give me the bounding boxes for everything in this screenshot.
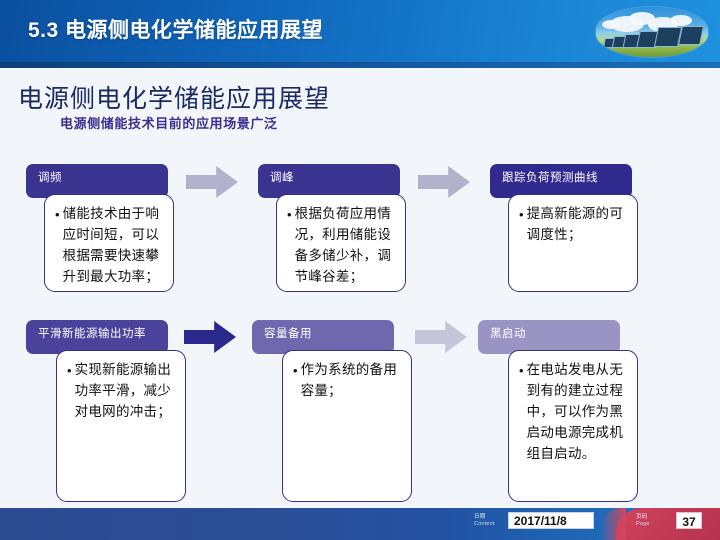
slide-canvas: 5.3 电源侧电化学储能应用展望 电源侧电化学储能应用展望 电源侧储能技术目前的… (0, 0, 720, 540)
bullet-icon: • (67, 360, 75, 381)
flow-node-header-heiqidong: 黑启动 (478, 320, 620, 354)
page-number-field[interactable]: 37 (676, 512, 702, 529)
flow-node-header-tiaofeng: 调峰 (258, 164, 400, 198)
bullet-icon: • (293, 360, 301, 381)
flow-node-header-rongliang: 容量备用 (252, 320, 394, 354)
flow-arrow-2 (418, 166, 470, 198)
section-subtitle: 电源侧储能技术目前的应用场景广泛 (60, 113, 278, 132)
slide-footer-bar (0, 508, 720, 540)
page-number-value: 37 (682, 515, 695, 529)
flow-node-text-pinghua: 实现新能源输出功率平滑，减少对电网的冲击； (75, 360, 177, 423)
bullet-icon: • (519, 204, 527, 225)
header-divider (0, 62, 720, 68)
date-label-cn: 日期 (474, 514, 485, 521)
flow-node-header-tiaopin: 调频 (26, 164, 168, 198)
flow-node-text-tiaopin: 储能技术由于响应时间短，可以根据需要快速攀升到最大功率； (63, 204, 165, 288)
cloud-shape (602, 20, 620, 29)
flow-node-header-pinghua: 平滑新能源输出功率 (26, 320, 168, 354)
flow-node-body-heiqidong: •在电站发电从无到有的建立过程中，可以作为黑启动电源完成机组自启动。 (508, 350, 638, 502)
date-value-field[interactable]: 2017/11/8 (508, 512, 594, 529)
page-number-accent (616, 508, 720, 540)
flow-node-body-tiaofeng: •根据负荷应用情况，利用储能设备多储少补，调节峰谷差； (276, 194, 406, 292)
bullet-icon: • (519, 360, 527, 381)
flow-node-header-genzong: 跟踪负荷预测曲线 (490, 164, 632, 198)
solar-panel-photo (596, 7, 708, 57)
date-label-en: Content (474, 521, 495, 528)
flow-node-body-tiaopin: •储能技术由于响应时间短，可以根据需要快速攀升到最大功率； (44, 194, 174, 292)
slide-header-bar: 5.3 电源侧电化学储能应用展望 (0, 0, 720, 62)
flow-node-text-tiaofeng: 根据负荷应用情况，利用储能设备多储少补，调节峰谷差； (295, 204, 397, 288)
page-title: 5.3 电源侧电化学储能应用展望 (28, 14, 323, 44)
flow-node-text-heiqidong: 在电站发电从无到有的建立过程中，可以作为黑启动电源完成机组自启动。 (527, 360, 629, 465)
page-label-cn: 页码 (636, 514, 647, 521)
cloud-shape (670, 15, 692, 26)
flow-node-body-rongliang: •作为系统的备用容量； (282, 350, 412, 502)
flow-arrow-3 (184, 321, 236, 353)
flow-node-text-genzong: 提高新能源的可调度性； (527, 204, 629, 246)
flow-arrow-4 (415, 321, 467, 353)
bullet-icon: • (55, 204, 63, 225)
page-label-en: Page (636, 521, 650, 528)
solar-panel-shape (678, 26, 704, 45)
flow-node-body-pinghua: •实现新能源输出功率平滑，减少对电网的冲击； (56, 350, 186, 502)
flow-arrow-1 (186, 166, 238, 198)
bullet-icon: • (287, 204, 295, 225)
flow-node-text-rongliang: 作为系统的备用容量； (301, 360, 403, 402)
date-value: 2017/11/8 (514, 514, 567, 529)
section-title: 电源侧电化学储能应用展望 (18, 79, 330, 115)
flow-node-body-genzong: •提高新能源的可调度性； (508, 194, 638, 292)
